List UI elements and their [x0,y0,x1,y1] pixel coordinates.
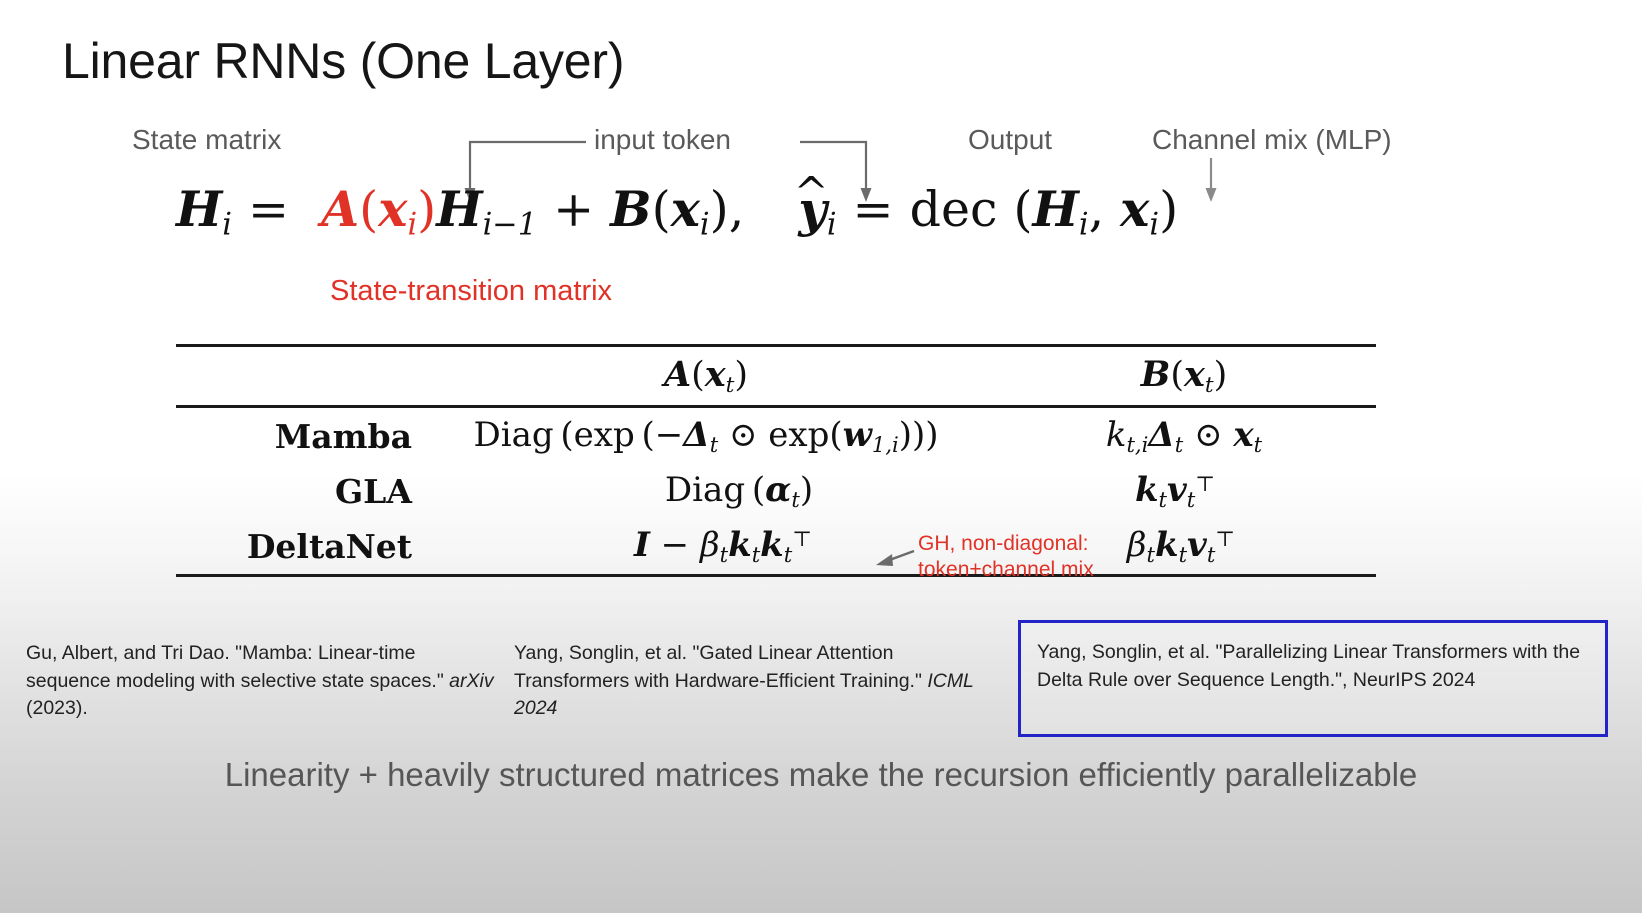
label-channel-mix: Channel mix (MLP) [1152,124,1392,156]
annotation-line-2: token+channel mix [918,557,1094,583]
row-deltanet-a: I − βtktkt⊤ [420,525,992,567]
comparison-table: A(xt) B(xt) Mamba Diag (exp (−Δt ⊙ exp(w… [176,344,1376,577]
citation-deltanet: Yang, Songlin, et al. "Parallelizing Lin… [1037,639,1593,694]
citation-highlight-box: Yang, Songlin, et al. "Parallelizing Lin… [1018,620,1608,737]
citation-gla: Yang, Songlin, et al. "Gated Linear Atte… [514,640,986,723]
citation-1-venue: arXiv [449,670,493,692]
label-output: Output [968,124,1052,156]
main-equation: Hi=A(xi)Hi−1+B(xi),^yi=dec(Hi,xi) [176,180,1178,243]
label-state-matrix: State matrix [132,124,281,156]
citation-mamba: Gu, Albert, and Tri Dao. "Mamba: Linear-… [26,640,496,723]
row-mamba-a: Diag (exp (−Δt ⊙ exp(w1,i))) [420,415,992,457]
annotation-line-1: GH, non-diagonal: [918,531,1094,557]
row-gla-a: Diag (αt) [420,470,992,512]
row-label-mamba: Mamba [176,417,420,456]
table-header-b: B(xt) [992,354,1376,398]
citation-1-text: Gu, Albert, and Tri Dao. "Mamba: Linear-… [26,642,449,692]
page-title: Linear RNNs (One Layer) [62,32,624,90]
row-mamba-b: kt,iΔt ⊙ xt [992,415,1376,457]
table-row: GLA Diag (αt) ktvt⊤ [176,464,1376,518]
annotation-gh-nondiagonal: GH, non-diagonal: token+channel mix [918,531,1094,584]
slide-canvas: Linear RNNs (One Layer) State matrix inp… [0,0,1642,913]
row-label-gla: GLA [176,472,420,511]
slide-caption: Linearity + heavily structured matrices … [0,752,1642,799]
table-header-a: A(xt) [420,354,992,398]
citation-2-text: Yang, Songlin, et al. "Gated Linear Atte… [514,642,927,692]
table-rule-bottom [176,574,1376,577]
label-state-transition-matrix: State-transition matrix [330,275,612,308]
row-gla-b: ktvt⊤ [992,470,1376,512]
label-input-token: input token [594,124,731,156]
table-row: Mamba Diag (exp (−Δt ⊙ exp(w1,i))) kt,iΔ… [176,408,1376,464]
table-row: DeltaNet I − βtktkt⊤ βtktvt⊤ [176,518,1376,574]
citation-1-year: (2023). [26,697,88,719]
row-label-deltanet: DeltaNet [176,527,420,566]
table-header-row: A(xt) B(xt) [176,347,1376,405]
